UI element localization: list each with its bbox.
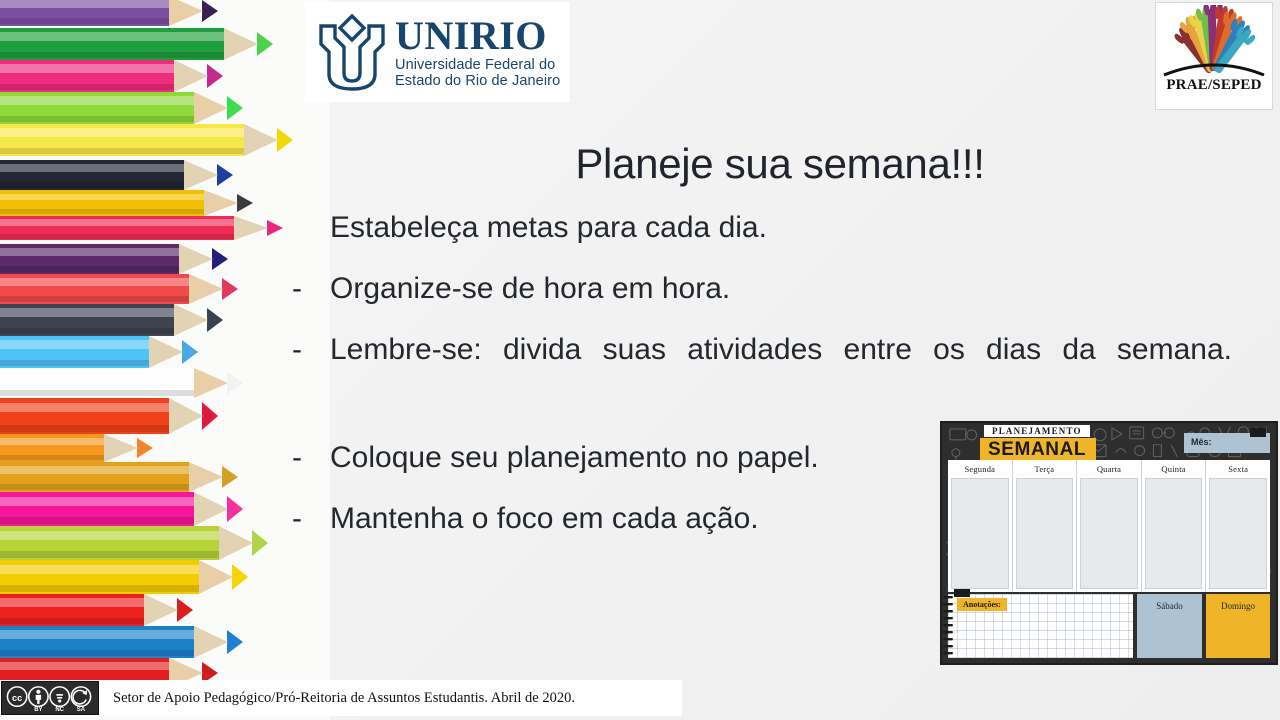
pencil-wood-tip: [234, 216, 268, 240]
pencil-lead: [237, 194, 253, 212]
pencil-lead: [227, 630, 243, 654]
weekday-label: Quinta: [1142, 460, 1206, 474]
pencil-lead: [212, 248, 228, 270]
pencil-barrel: [0, 160, 184, 190]
unirio-name: UNIRIO: [395, 16, 560, 56]
bullet-text: Estabeleça metas para cada dia.: [330, 208, 1232, 247]
pencil-icon: [0, 190, 253, 216]
svg-text:NC: NC: [55, 707, 64, 713]
pencil-lead: [222, 466, 238, 488]
pencil-wood-tip: [244, 124, 278, 156]
pencil-lead: [257, 32, 273, 56]
colored-hands-icon: [1158, 5, 1270, 79]
pencil-icon: [0, 244, 228, 274]
pencil-barrel: [0, 368, 194, 398]
binder-clip-icon: [1250, 428, 1266, 437]
pencil-barrel: [0, 244, 179, 274]
pencil-barrel: [0, 560, 199, 594]
pencil-barrel: [0, 398, 169, 434]
pencil-icon: [0, 274, 238, 304]
pencil-barrel: [0, 124, 244, 156]
spiral-binding-icon: [943, 594, 953, 658]
pencil-wood-tip: [174, 304, 208, 336]
pencil-icon: [0, 560, 248, 594]
bullet-dash: -: [292, 499, 330, 538]
pencil-lead: [227, 496, 243, 522]
weekday-label: Segunda: [948, 460, 1012, 474]
pencil-icon: [0, 92, 243, 124]
pencil-icon: [0, 0, 218, 26]
pencil-wood-tip: [174, 60, 208, 92]
svg-text:BY: BY: [34, 707, 42, 713]
page-title: Planeje sua semana!!!: [330, 140, 1230, 188]
weekday-write-area[interactable]: [1145, 478, 1203, 589]
weekday-grid: Segunda Terça Quarta Quinta Sexta: [948, 460, 1270, 592]
pencil-icon: [0, 368, 243, 398]
pencil-lead: [202, 402, 218, 430]
pencil-icon: [0, 492, 243, 526]
pencil-wood-tip: [149, 336, 183, 368]
weekday-write-area[interactable]: [1080, 478, 1138, 589]
saturday-block[interactable]: Sábado: [1137, 594, 1202, 658]
pencil-barrel: [0, 434, 104, 462]
footer-bar: cc BY NC SA: [0, 680, 682, 716]
pencil-icon: [0, 398, 218, 434]
weekday-label: Terça: [1013, 460, 1077, 474]
weekday-label: Sexta: [1206, 460, 1270, 474]
weekday-label: Quarta: [1077, 460, 1141, 474]
pencil-lead: [202, 0, 218, 22]
pencil-wood-tip: [189, 462, 223, 492]
unirio-u-mark-icon: [313, 11, 391, 93]
month-field[interactable]: Mês:: [1184, 433, 1270, 453]
pencil-wood-tip: [169, 0, 203, 26]
pencil-barrel: [0, 60, 174, 92]
bullet-text: Lembre-se: divida suas atividades entre …: [330, 330, 1232, 408]
planner-kicker: PLANEJAMENTO: [984, 425, 1090, 437]
pencil-wood-tip: [194, 492, 228, 526]
pencil-icon: [0, 526, 268, 560]
pencil-wood-tip: [194, 92, 228, 124]
unirio-subtitle-line2: Estado do Rio de Janeiro: [395, 74, 560, 89]
prae-seped-label: PRAE/SEPED: [1166, 77, 1261, 94]
notes-label: Anotações:: [957, 598, 1007, 611]
unirio-logo: UNIRIO Universidade Federal do Estado do…: [305, 2, 570, 102]
weekday-column: Segunda: [948, 460, 1013, 592]
pencil-wood-tip: [219, 526, 253, 560]
pencil-wood-tip: [104, 434, 138, 462]
notes-area[interactable]: Anotações:: [948, 594, 1133, 658]
pencil-wood-tip: [224, 28, 258, 60]
pencil-wood-tip: [194, 368, 228, 398]
pencil-barrel: [0, 336, 149, 368]
pencil-barrel: [0, 526, 219, 560]
weekly-planner-image: PLANEJAMENTO SEMANAL Mês: Segunda Terça …: [940, 421, 1278, 665]
pencil-barrel: [0, 92, 194, 124]
pencil-icon: [0, 28, 273, 60]
weekday-column: Quinta: [1142, 460, 1207, 592]
weekday-write-area[interactable]: [951, 478, 1009, 589]
pencil-barrel: [0, 594, 144, 626]
weekday-write-area[interactable]: [1016, 478, 1074, 589]
sunday-block[interactable]: Domingo: [1206, 594, 1270, 658]
colored-pencils-border-icon: [0, 0, 330, 720]
list-item: - Lembre-se: divida suas atividades entr…: [292, 330, 1232, 408]
weekday-write-area[interactable]: [1209, 478, 1267, 589]
pencil-wood-tip: [144, 594, 178, 626]
pencil-wood-tip: [199, 560, 233, 594]
svg-text:cc: cc: [12, 692, 22, 702]
pencil-icon: [0, 434, 153, 462]
footer-credit: Setor de Apoio Pedagógico/Pró-Reitoria d…: [113, 690, 575, 707]
pencil-lead: [232, 564, 248, 590]
bullet-dash: -: [292, 330, 330, 369]
pencil-lead: [217, 164, 233, 186]
slide-canvas: UNIRIO Universidade Federal do Estado do…: [0, 0, 1280, 720]
pencil-wood-tip: [194, 626, 228, 658]
pencil-barrel: [0, 492, 194, 526]
pencil-icon: [0, 124, 293, 156]
pencil-lead: [182, 340, 198, 364]
sunday-label: Domingo: [1221, 601, 1255, 611]
pencil-wood-tip: [184, 160, 218, 190]
pencil-barrel: [0, 0, 169, 26]
pencil-wood-tip: [179, 244, 213, 274]
pencil-lead: [207, 64, 223, 88]
pencil-icon: [0, 594, 193, 626]
unirio-subtitle-line1: Universidade Federal do: [395, 58, 560, 73]
pencil-lead: [227, 372, 243, 394]
pencil-lead: [267, 220, 283, 236]
pencil-lead: [207, 308, 223, 332]
pencil-barrel: [0, 190, 204, 216]
pencil-wood-tip: [204, 190, 238, 216]
bullet-text: Organize-se de hora em hora.: [330, 269, 1232, 308]
pencil-barrel: [0, 304, 174, 336]
pencil-lead: [222, 278, 238, 300]
pencil-barrel: [0, 626, 194, 658]
weekday-column: Sexta: [1206, 460, 1270, 592]
pencil-lead: [227, 96, 243, 120]
binder-clip-icon: [954, 589, 970, 597]
weekday-column: Terça: [1013, 460, 1078, 592]
pencil-icon: [0, 336, 198, 368]
svg-text:SA: SA: [77, 707, 86, 713]
pencil-lead: [252, 530, 268, 556]
bullet-dash: -: [292, 269, 330, 308]
month-label: Mês:: [1191, 437, 1212, 447]
pencil-lead: [177, 598, 193, 622]
list-item: - Estabeleça metas para cada dia.: [292, 208, 1232, 247]
pencil-icon: [0, 462, 238, 492]
pencil-icon: [0, 304, 223, 336]
pencil-barrel: [0, 28, 224, 60]
planner-header: PLANEJAMENTO SEMANAL Mês:: [942, 423, 1276, 459]
pencil-icon: [0, 160, 233, 190]
bullet-dash: -: [292, 438, 330, 477]
pencil-icon: [0, 626, 243, 658]
pencil-wood-tip: [169, 398, 203, 434]
pencil-wood-tip: [189, 274, 223, 304]
pencil-barrel: [0, 216, 234, 240]
weekday-column: Quarta: [1077, 460, 1142, 592]
pencil-barrel: [0, 274, 189, 304]
creative-commons-by-nc-sa-icon[interactable]: cc BY NC SA: [1, 681, 99, 715]
pencil-lead: [277, 128, 293, 152]
list-item: - Organize-se de hora em hora.: [292, 269, 1232, 308]
saturday-label: Sábado: [1156, 601, 1183, 611]
pencil-icon: [0, 60, 223, 92]
pencil-icon: [0, 216, 283, 240]
prae-seped-logo: PRAE/SEPED: [1155, 2, 1273, 110]
planner-bottom-row: Anotações: Sábado Domingo: [948, 594, 1270, 658]
pencil-barrel: [0, 462, 189, 492]
pencil-lead: [137, 438, 153, 458]
